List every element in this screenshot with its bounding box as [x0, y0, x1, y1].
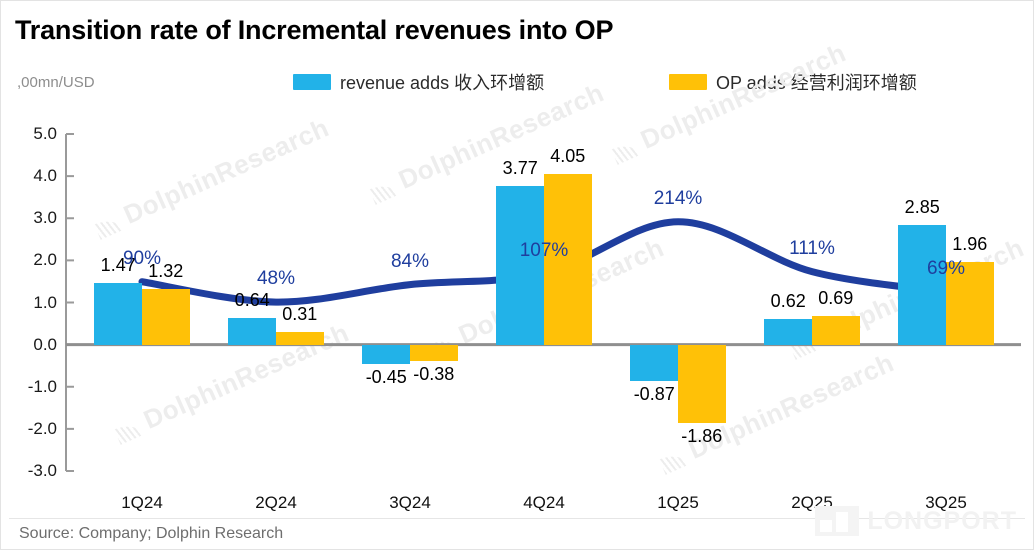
- bar-op-adds-2Q25: [812, 316, 860, 345]
- value-label-revenue-adds-3Q24: -0.45: [366, 367, 407, 388]
- footer-divider: [9, 518, 1025, 519]
- x-tick-label: 3Q24: [389, 493, 431, 513]
- x-axis: 1Q242Q243Q244Q241Q252Q253Q25: [1, 493, 1034, 521]
- value-label-op-adds-2Q24: 0.31: [282, 304, 317, 325]
- legend-label-revenue-adds: revenue adds 收入环增额: [340, 69, 544, 95]
- bar-op-adds-2Q24: [276, 332, 324, 345]
- x-tick-label: 1Q25: [657, 493, 699, 513]
- bar-revenue-adds-2Q24: [228, 318, 276, 345]
- bar-revenue-adds-1Q25: [630, 345, 678, 382]
- value-label-op-adds-4Q24: 4.05: [550, 146, 585, 167]
- bar-revenue-adds-1Q24: [94, 283, 142, 345]
- units-label: ,00mn/USD: [17, 74, 95, 91]
- legend-item-op-adds: OP adds 经营利润环增额: [669, 69, 917, 95]
- legend-label-op-adds: OP adds 经营利润环增额: [716, 69, 917, 95]
- x-tick-label: 2Q25: [791, 493, 833, 513]
- value-label-op-adds-2Q25: 0.69: [818, 288, 853, 309]
- bar-op-adds-1Q25: [678, 345, 726, 423]
- source-note: Source: Company; Dolphin Research: [19, 525, 283, 543]
- rate-label-1Q25: 214%: [654, 188, 703, 210]
- x-tick-label: 2Q24: [255, 493, 297, 513]
- x-tick-label: 4Q24: [523, 493, 565, 513]
- legend-swatch-revenue-adds: [293, 74, 331, 90]
- legend-item-revenue-adds: revenue adds 收入环增额: [293, 69, 544, 95]
- x-tick-label: 1Q24: [121, 493, 163, 513]
- page-title: Transition rate of Incremental revenues …: [15, 15, 613, 46]
- rate-label-1Q24: 90%: [123, 248, 161, 270]
- rate-label-2Q24: 48%: [257, 268, 295, 290]
- bar-op-adds-3Q24: [410, 345, 458, 361]
- chart-page: Transition rate of Incremental revenues …: [0, 0, 1034, 550]
- value-label-revenue-adds-4Q24: 3.77: [503, 158, 538, 179]
- rate-label-4Q24: 107%: [520, 240, 569, 262]
- rate-label-3Q24: 84%: [391, 251, 429, 273]
- legend-swatch-op-adds: [669, 74, 707, 90]
- bar-revenue-adds-3Q24: [362, 345, 410, 364]
- value-label-op-adds-1Q25: -1.86: [681, 426, 722, 447]
- plot-area: DolphinResearchDolphinResearchDolphinRes…: [1, 119, 1034, 491]
- value-label-op-adds-3Q25: 1.96: [952, 234, 987, 255]
- value-label-revenue-adds-2Q25: 0.62: [771, 291, 806, 312]
- bar-revenue-adds-3Q25: [898, 225, 946, 345]
- value-label-revenue-adds-1Q25: -0.87: [634, 384, 675, 405]
- x-tick-label: 3Q25: [925, 493, 967, 513]
- rate-label-3Q25: 69%: [927, 258, 965, 280]
- bar-revenue-adds-2Q25: [764, 319, 812, 345]
- bar-op-adds-1Q24: [142, 289, 190, 345]
- value-label-revenue-adds-3Q25: 2.85: [905, 197, 940, 218]
- rate-label-2Q25: 111%: [789, 238, 835, 260]
- bar-revenue-adds-4Q24: [496, 186, 544, 345]
- value-label-revenue-adds-2Q24: 0.64: [235, 290, 270, 311]
- value-label-op-adds-3Q24: -0.38: [413, 364, 454, 385]
